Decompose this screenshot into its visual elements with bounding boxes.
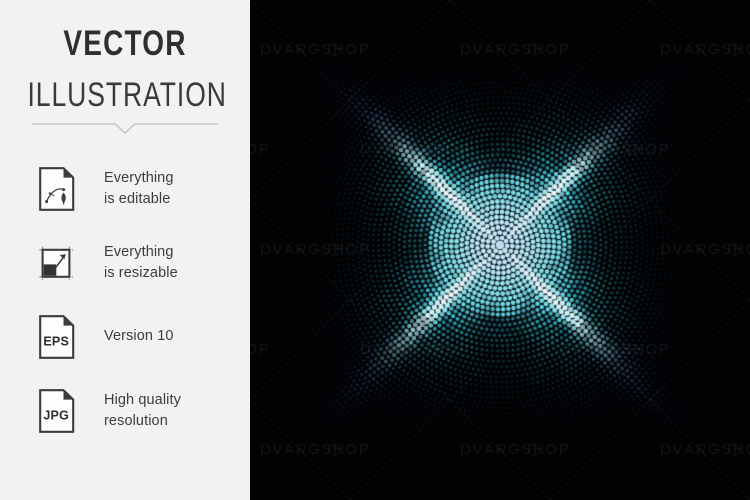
artwork-panel [250, 0, 750, 500]
divider [32, 120, 218, 136]
info-panel: VECTOR ILLUSTRATION Every [0, 0, 250, 500]
title-block: VECTOR ILLUSTRATION [0, 26, 250, 112]
feature-item-resizable: Everything is resizable [0, 226, 250, 300]
poster-canvas: VECTOR ILLUSTRATION Every [0, 0, 750, 500]
eps-file-icon: EPS [38, 314, 76, 360]
halftone-starburst-graphic [250, 0, 750, 500]
jpg-file-icon: JPG [38, 388, 76, 434]
jpg-icon-text: JPG [43, 409, 69, 423]
feature-item-jpg: JPG High quality resolution [0, 374, 250, 448]
eps-icon-text: EPS [43, 335, 69, 349]
feature-label: High quality resolution [104, 390, 181, 433]
feature-label: Version 10 [104, 326, 174, 347]
feature-label: Everything is resizable [104, 242, 178, 285]
feature-item-editable: Everything is editable [0, 152, 250, 226]
feature-list: Everything is editable Everything [0, 152, 250, 448]
feature-item-eps: EPS Version 10 [0, 300, 250, 374]
page-title-primary: VECTOR [25, 26, 225, 61]
feature-label: Everything is editable [104, 168, 174, 211]
resize-arrow-icon [38, 240, 76, 286]
page-title-secondary: ILLUSTRATION [28, 78, 223, 112]
file-pen-bezier-icon [38, 166, 76, 212]
